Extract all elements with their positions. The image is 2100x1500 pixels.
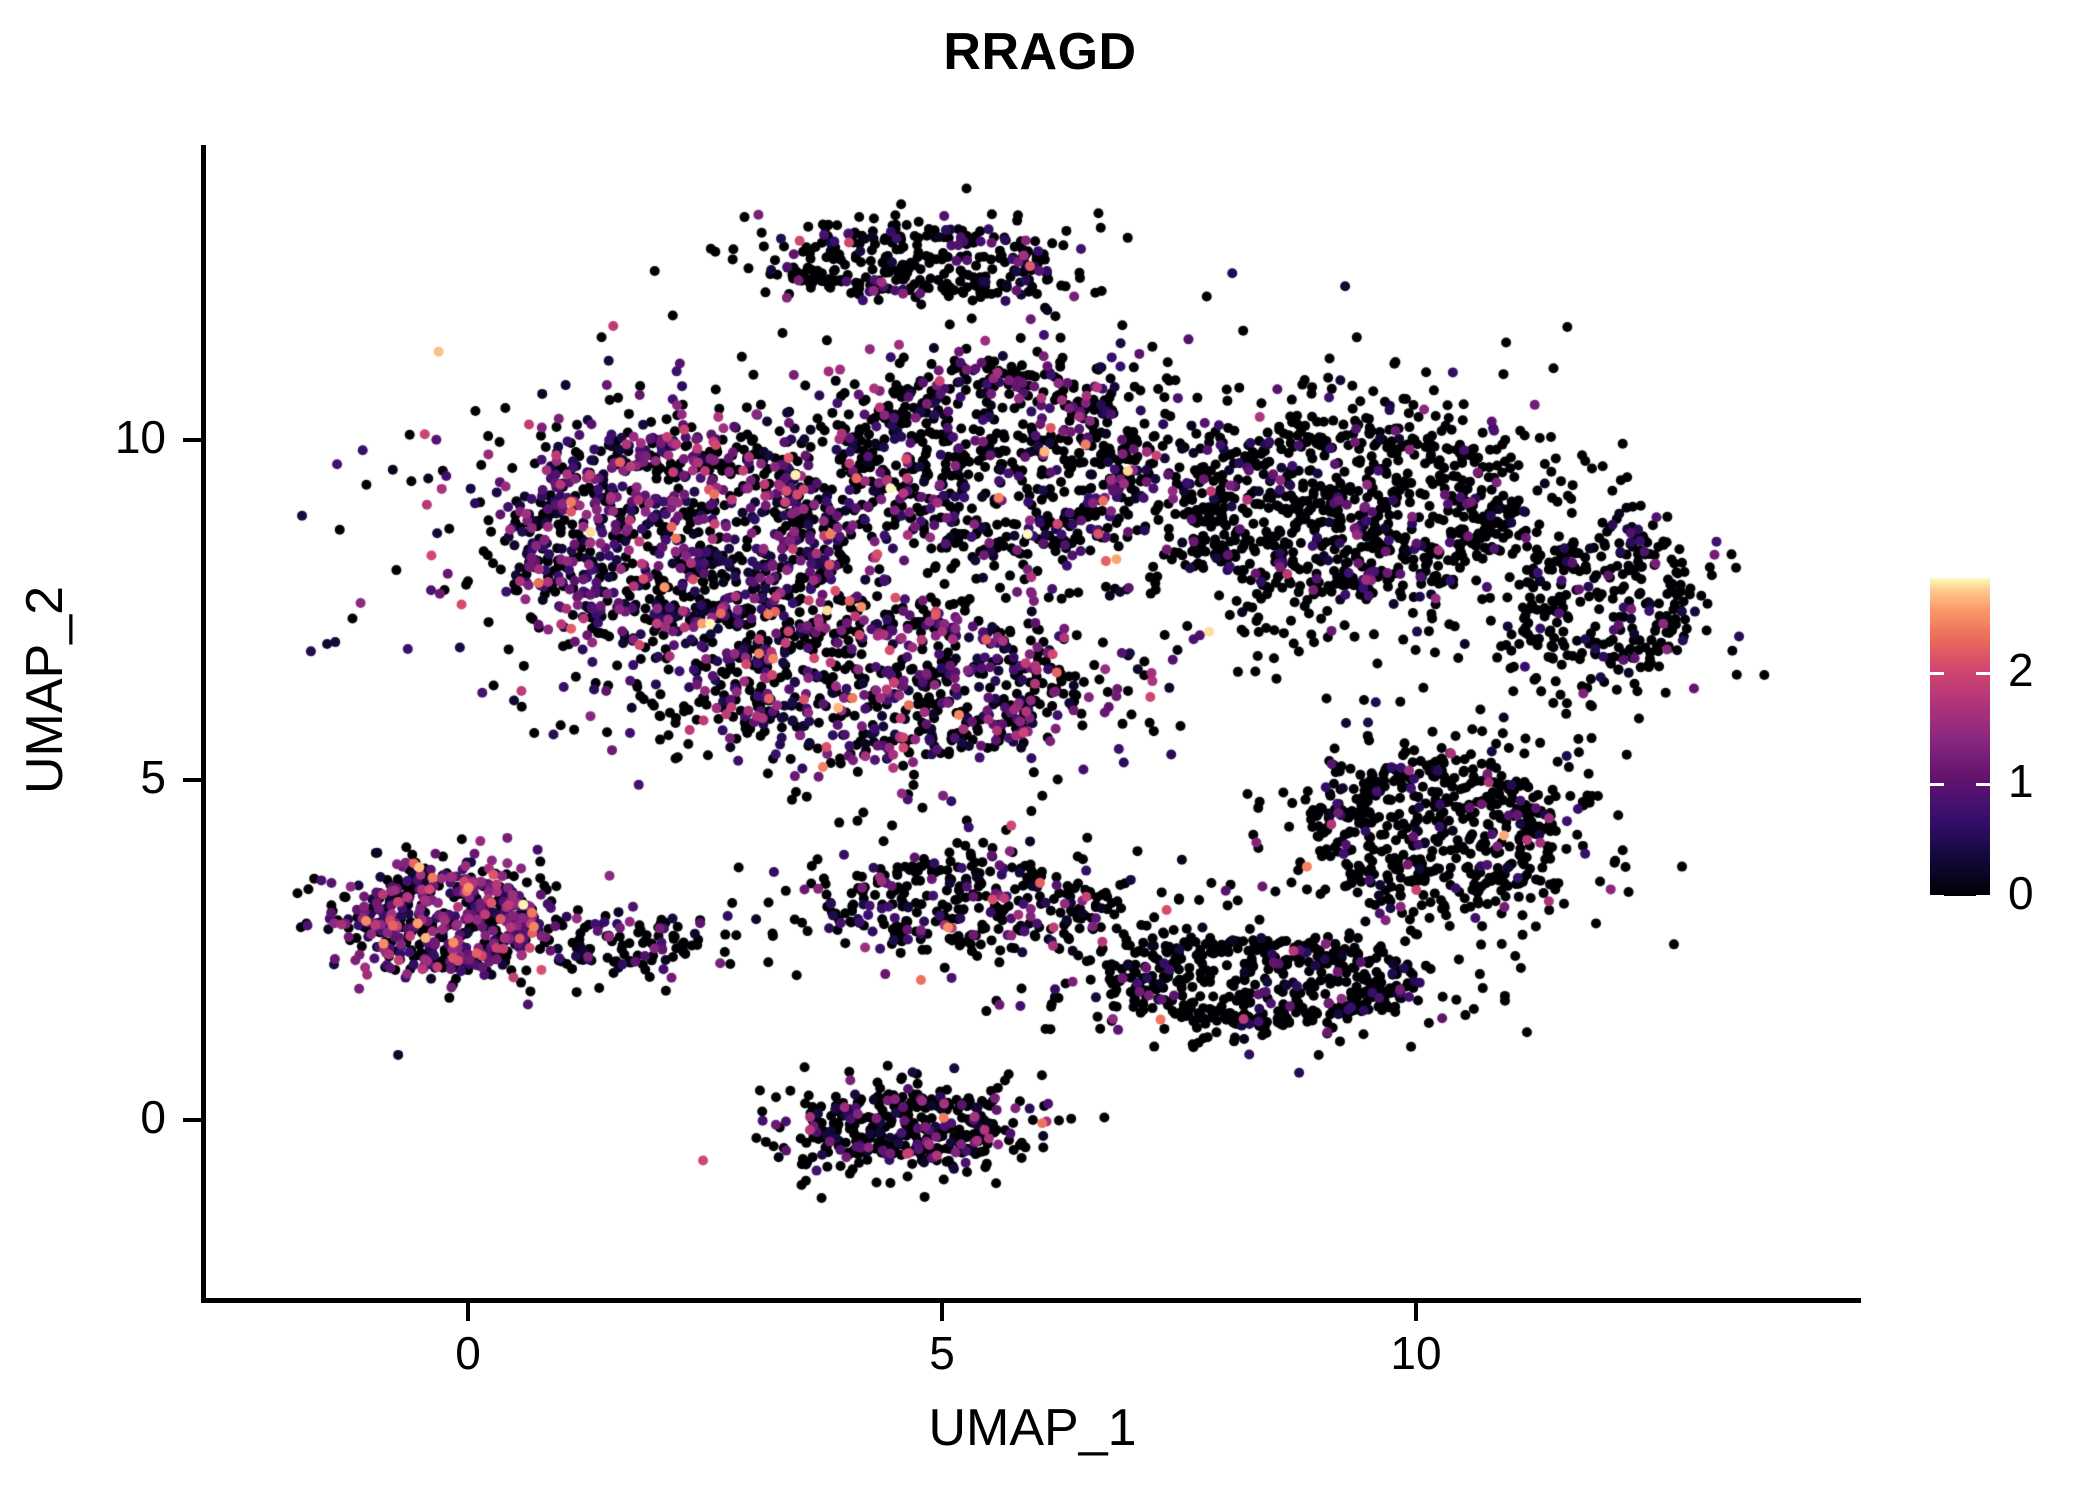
y-tick-mark-5 [183, 778, 201, 782]
colorbar-label-1: 1 [2008, 758, 2034, 804]
figure-root: RRAGD 10 5 0 0 5 10 UMAP_1 UMAP_2 2 1 0 [0, 0, 2100, 1500]
colorbar-tick-1-left [1930, 783, 1944, 786]
y-axis-title: UMAP_2 [15, 380, 75, 1000]
x-tick-label-5: 5 [862, 1326, 1022, 1380]
x-tick-label-10: 10 [1336, 1326, 1496, 1380]
y-tick-mark-10 [183, 438, 201, 442]
colorbar-tick-0-right [1976, 895, 1990, 898]
y-tick-mark-0 [183, 1118, 201, 1122]
colorbar-tick-2-right [1976, 672, 1990, 675]
colorbar-tick-2-left [1930, 672, 1944, 675]
x-axis-title: UMAP_1 [205, 1398, 1860, 1458]
x-axis-line [201, 1298, 1861, 1303]
plot-panel [205, 145, 1860, 1300]
colorbar-label-0: 0 [2008, 870, 2034, 916]
y-axis-line [201, 145, 206, 1303]
x-tick-label-0: 0 [388, 1326, 548, 1380]
scatter-points-canvas [205, 145, 1860, 1300]
colorbar-legend: 2 1 0 [1930, 578, 2090, 896]
colorbar-tick-0-left [1930, 895, 1944, 898]
y-tick-label-0: 0 [0, 1090, 172, 1144]
x-tick-mark-5 [940, 1303, 944, 1321]
page-title: RRAGD [0, 22, 2080, 82]
colorbar-gradient [1930, 578, 1990, 896]
x-tick-mark-10 [1414, 1303, 1418, 1321]
x-tick-mark-0 [466, 1303, 470, 1321]
colorbar-label-2: 2 [2008, 647, 2034, 693]
colorbar-tick-1-right [1976, 783, 1990, 786]
